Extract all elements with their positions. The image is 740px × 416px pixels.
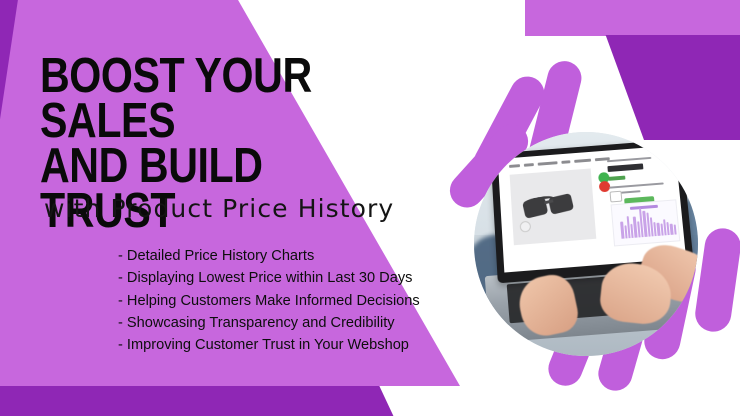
screen-nav-item bbox=[523, 164, 533, 168]
screen-zoom-icon bbox=[519, 221, 531, 233]
sunglasses-product-image bbox=[522, 193, 585, 219]
screen-product-details bbox=[606, 156, 678, 247]
list-item: - Improving Customer Trust in Your Websh… bbox=[118, 334, 518, 356]
subtitle: with Product Price History bbox=[44, 194, 394, 223]
chart-bar bbox=[620, 222, 624, 240]
screen-product-title bbox=[607, 164, 643, 173]
screen-product-desc-line bbox=[608, 183, 663, 189]
screen-nav-item bbox=[561, 161, 570, 165]
feature-list: - Detailed Price History Charts - Displa… bbox=[118, 245, 518, 356]
list-item: - Displaying Lowest Price within Last 30… bbox=[118, 267, 518, 289]
screen-product-image-box bbox=[509, 169, 597, 246]
screen-quantity-stepper bbox=[609, 191, 622, 203]
screen-nav-item bbox=[573, 160, 590, 164]
chart-bar bbox=[673, 225, 676, 235]
screen-product-price bbox=[608, 176, 625, 181]
screen-nav-item bbox=[508, 165, 519, 169]
chart-bar bbox=[656, 223, 660, 236]
decorative-pill-7 bbox=[693, 226, 740, 334]
chart-bar bbox=[624, 226, 627, 239]
list-item: - Detailed Price History Charts bbox=[118, 245, 518, 267]
promo-banner: BOOST YOUR SALES AND BUILD TRUST with Pr… bbox=[0, 0, 740, 416]
chart-bar bbox=[670, 224, 673, 236]
list-item: - Helping Customers Make Informed Decisi… bbox=[118, 290, 518, 312]
background-shape-top-right-light bbox=[525, 0, 740, 36]
screen-chart-bars bbox=[619, 206, 676, 239]
chart-bar bbox=[660, 224, 663, 236]
screen-price-history-chart bbox=[610, 200, 681, 247]
list-item: - Showcasing Transparency and Credibilit… bbox=[118, 312, 518, 334]
laptop-device bbox=[487, 145, 693, 342]
screen-nav-bar bbox=[508, 157, 615, 170]
screen-nav-item bbox=[537, 162, 557, 166]
